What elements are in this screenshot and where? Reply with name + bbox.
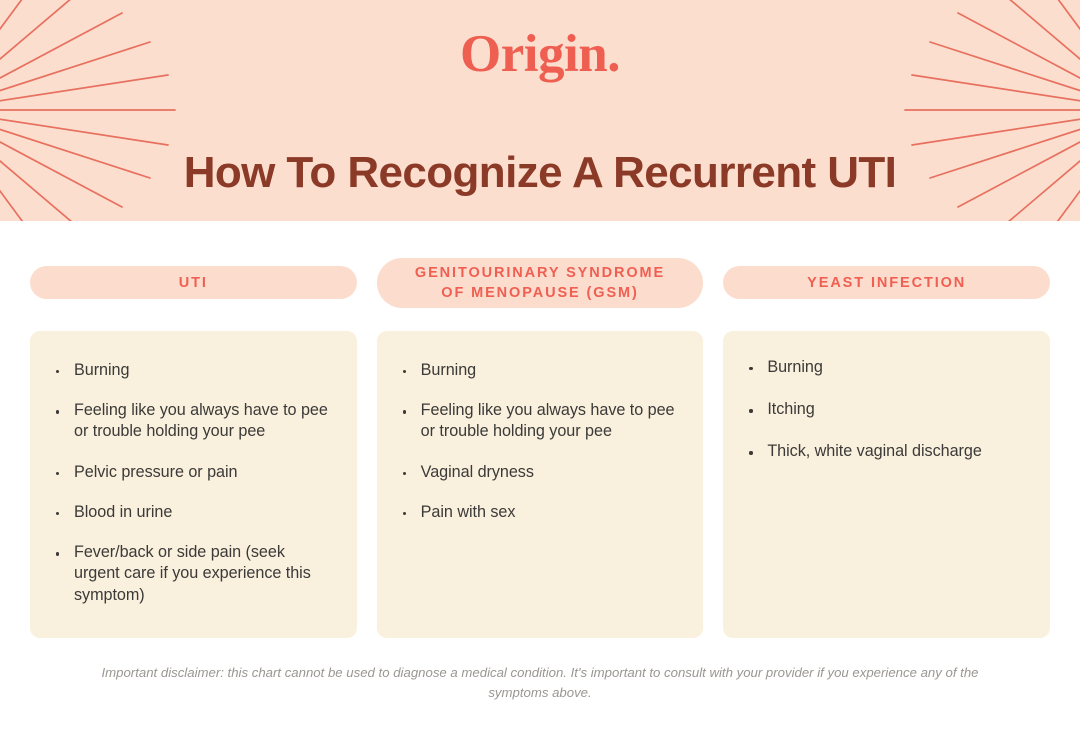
symptom-list-uti: Burning Feeling like you always have to … bbox=[52, 360, 335, 606]
column-header-uti: UTI bbox=[30, 266, 357, 299]
column-header-yeast-infection: YEAST INFECTION bbox=[723, 266, 1050, 299]
list-item: Burning bbox=[399, 360, 682, 381]
bullet-dot-icon bbox=[403, 410, 406, 413]
symptom-text: Vaginal dryness bbox=[421, 463, 534, 481]
column-header-gsm-line-2: OF MENOPAUSE (GSM) bbox=[441, 285, 638, 301]
bullet-dot-icon bbox=[749, 451, 752, 454]
symptom-text: Burning bbox=[421, 361, 476, 379]
symptom-text: Blood in urine bbox=[74, 503, 172, 521]
bullet-dot-icon bbox=[749, 409, 752, 412]
symptom-text: Burning bbox=[767, 358, 822, 376]
list-item: Pelvic pressure or pain bbox=[52, 462, 335, 483]
list-item: Thick, white vaginal discharge bbox=[745, 441, 1028, 462]
bullet-dot-icon bbox=[56, 552, 59, 555]
symptom-list-gsm: Burning Feeling like you always have to … bbox=[399, 360, 682, 523]
column-uti: UTI Burning Feeling like you always have… bbox=[30, 258, 357, 638]
column-header-gsm: GENITOURINARY SYNDROME OF MENOPAUSE (GSM… bbox=[377, 258, 704, 308]
bullet-dot-icon bbox=[749, 367, 752, 370]
list-item: Burning bbox=[745, 357, 1028, 378]
symptom-list-yeast-infection: Burning Itching Thick, white vaginal dis… bbox=[745, 357, 1028, 463]
column-header-uti-line-1: UTI bbox=[179, 273, 208, 293]
symptom-card-yeast-infection: Burning Itching Thick, white vaginal dis… bbox=[723, 331, 1050, 638]
bullet-dot-icon bbox=[56, 410, 59, 413]
brand-logo: Origin. bbox=[0, 28, 1080, 81]
symptom-text: Fever/back or side pain (seek urgent car… bbox=[74, 543, 311, 603]
symptom-text: Itching bbox=[767, 400, 814, 418]
symptom-text: Feeling like you always have to pee or t… bbox=[74, 401, 328, 440]
list-item: Burning bbox=[52, 360, 335, 381]
symptom-text: Pain with sex bbox=[421, 503, 516, 521]
list-item: Fever/back or side pain (seek urgent car… bbox=[52, 542, 335, 606]
list-item: Itching bbox=[745, 399, 1028, 420]
column-yeast-infection: YEAST INFECTION Burning Itching Thick, w… bbox=[723, 258, 1050, 638]
bullet-dot-icon bbox=[56, 512, 59, 515]
symptom-card-uti: Burning Feeling like you always have to … bbox=[30, 331, 357, 638]
symptom-text: Thick, white vaginal discharge bbox=[767, 442, 981, 460]
symptom-columns: UTI Burning Feeling like you always have… bbox=[30, 258, 1050, 638]
bullet-dot-icon bbox=[403, 370, 406, 373]
list-item: Pain with sex bbox=[399, 502, 682, 523]
bullet-dot-icon bbox=[403, 512, 406, 515]
list-item: Vaginal dryness bbox=[399, 462, 682, 483]
list-item: Blood in urine bbox=[52, 502, 335, 523]
bullet-dot-icon bbox=[56, 472, 59, 475]
header-band: Origin. How To Recognize A Recurrent UTI bbox=[0, 0, 1080, 221]
column-header-gsm-line-1: GENITOURINARY SYNDROME bbox=[415, 265, 665, 281]
symptom-text: Burning bbox=[74, 361, 129, 379]
list-item: Feeling like you always have to pee or t… bbox=[399, 400, 682, 442]
disclaimer-text: Important disclaimer: this chart cannot … bbox=[78, 663, 1002, 703]
page-title: How To Recognize A Recurrent UTI bbox=[0, 148, 1080, 198]
symptom-text: Pelvic pressure or pain bbox=[74, 463, 238, 481]
column-gsm: GENITOURINARY SYNDROME OF MENOPAUSE (GSM… bbox=[377, 258, 704, 638]
bullet-dot-icon bbox=[403, 472, 406, 475]
symptom-text: Feeling like you always have to pee or t… bbox=[421, 401, 675, 440]
symptom-card-gsm: Burning Feeling like you always have to … bbox=[377, 331, 704, 638]
column-header-yeast-line-1: YEAST INFECTION bbox=[807, 273, 966, 293]
bullet-dot-icon bbox=[56, 370, 59, 373]
list-item: Feeling like you always have to pee or t… bbox=[52, 400, 335, 442]
